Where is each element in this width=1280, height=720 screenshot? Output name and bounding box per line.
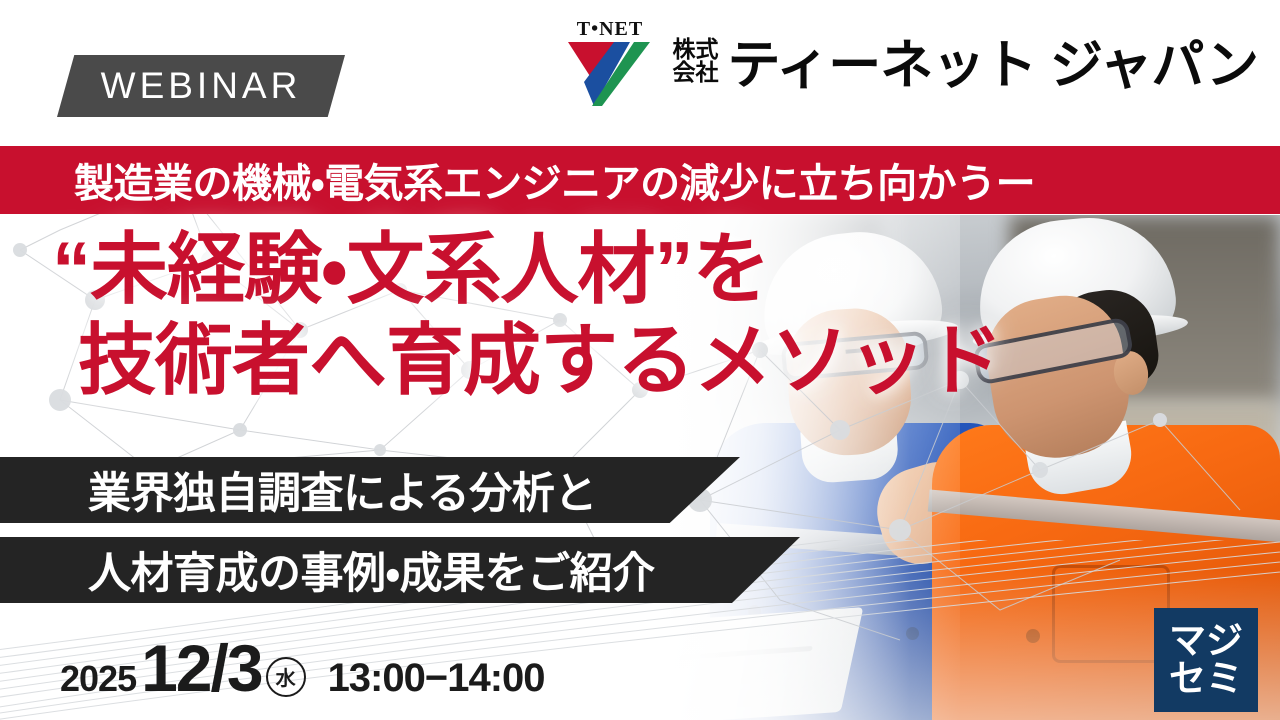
company-prefix-line2: 会社 [672, 61, 718, 84]
date-month-day: 12/3 [141, 630, 261, 706]
red-subtitle-text: 製造業の機械・電気系エンジニアの減少に立ち向かうー [74, 151, 1035, 209]
subhead-bar-2-text: 人材育成の事例・成果をご紹介 [88, 539, 655, 601]
headline-line-2: 技術者へ育成するメソッド [78, 319, 1060, 402]
date-day-of-week: 水 [266, 657, 306, 697]
header: WEBINAR T•NET 株式 会社 ティーネット ジャパン [0, 0, 1280, 145]
date-time: 13:00−14:00 [328, 656, 545, 701]
company-prefix: 株式 会社 [672, 38, 718, 84]
tnet-logo-mark-icon: T•NET [558, 14, 662, 108]
webinar-badge-label: WEBINAR [101, 65, 302, 107]
company-name: ティーネット ジャパン [727, 23, 1258, 99]
tnet-logo-wordmark: 株式 会社 ティーネット ジャパン [672, 23, 1258, 99]
webinar-badge: WEBINAR [57, 55, 345, 117]
majisemi-badge-line1: マジ [1169, 622, 1243, 660]
svg-text:T•NET: T•NET [577, 18, 643, 40]
subhead-bar-1: 業界独自調査による分析と [0, 457, 740, 523]
webinar-banner: WEBINAR T•NET 株式 会社 ティーネット ジャパン 製造業 [0, 0, 1280, 720]
majisemi-badge: マジ セミ [1154, 608, 1258, 712]
majisemi-badge-line2: セミ [1169, 660, 1243, 698]
headline-line-1: “未経験・文系人材”を [52, 228, 1060, 311]
headline: “未経験・文系人材”を 技術者へ育成するメソッド [0, 228, 1060, 401]
date-year: 2025 [60, 658, 136, 700]
subhead-bar-2: 人材育成の事例・成果をご紹介 [0, 537, 800, 603]
subhead-bar-1-text: 業界独自調査による分析と [88, 459, 597, 521]
company-prefix-line1: 株式 [672, 38, 718, 61]
red-subtitle-strip: 製造業の機械・電気系エンジニアの減少に立ち向かうー [0, 146, 1280, 214]
date-line: 2025 12/3 水 13:00−14:00 [60, 630, 545, 706]
tnet-logo: T•NET 株式 会社 ティーネット ジャパン [558, 14, 1258, 108]
